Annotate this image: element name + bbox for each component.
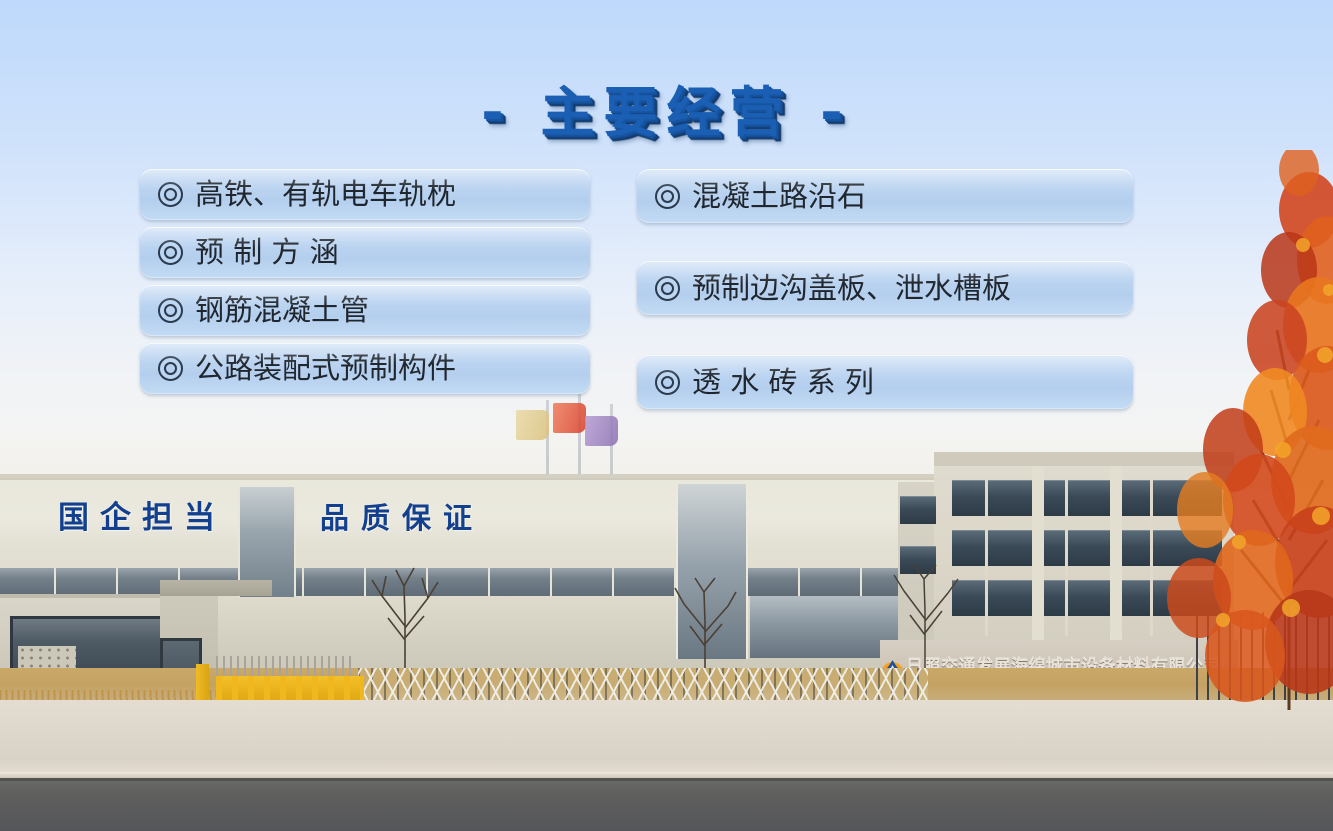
double-circle-icon: [158, 298, 183, 323]
autumn-maple-tree: [1113, 150, 1333, 710]
factory-sign-right: 品质保证: [320, 495, 484, 537]
office-mullion-2: [1065, 480, 1068, 636]
bare-tree-left: [360, 548, 450, 678]
service-list-left: 高铁、有轨电车轨枕 预 制 方 涵 钢筋混凝土管 公路装配式预制构件: [140, 169, 590, 401]
office-wing-window: [900, 496, 936, 524]
service-label: 公路装配式预制构件: [195, 354, 456, 383]
bare-tree-right: [880, 545, 970, 675]
page-title: - 主要经营 -: [0, 68, 1333, 147]
service-item-gangjin-pipe[interactable]: 钢筋混凝土管: [140, 285, 590, 336]
service-label: 透 水 砖 系 列: [692, 368, 874, 397]
sidewalk: [0, 700, 1333, 776]
service-label: 预 制 方 涵: [195, 238, 339, 267]
service-label: 混凝土路沿石: [692, 182, 866, 211]
bare-tree-center: [660, 560, 750, 680]
service-item-yuzhifanghan[interactable]: 预 制 方 涵: [140, 227, 590, 278]
service-label: 预制边沟盖板、泄水槽板: [692, 274, 1011, 303]
double-circle-icon: [158, 182, 183, 207]
service-label: 钢筋混凝土管: [195, 296, 369, 325]
factory-sign-left: 国企担当: [58, 492, 226, 537]
service-item-permeable-brick[interactable]: 透 水 砖 系 列: [637, 355, 1133, 409]
double-circle-icon: [158, 240, 183, 265]
double-circle-icon: [158, 356, 183, 381]
flag-red: [553, 403, 586, 433]
entrance-canopy: [160, 580, 272, 596]
flag-purple: [585, 416, 618, 446]
poster-canvas: 国企担当 品质保证 日照交通发展海绵城市设备材料有限公司: [0, 0, 1333, 831]
double-circle-icon: [655, 370, 680, 395]
yellow-safety-barrier: [216, 676, 364, 702]
service-item-highway-components[interactable]: 公路装配式预制构件: [140, 343, 590, 394]
double-circle-icon: [655, 184, 680, 209]
asphalt-road: [0, 778, 1333, 831]
office-mullion-1: [985, 480, 988, 636]
service-item-curbstone[interactable]: 混凝土路沿石: [637, 169, 1133, 223]
service-list-right: 混凝土路沿石 预制边沟盖板、泄水槽板 透 水 砖 系 列: [637, 169, 1133, 409]
service-item-ditch-cover[interactable]: 预制边沟盖板、泄水槽板: [637, 261, 1133, 315]
service-label: 高铁、有轨电车轨枕: [195, 180, 456, 209]
office-pier-1: [1032, 466, 1044, 656]
page-title-text: - 主要经营 -: [481, 68, 851, 147]
flag-yellow: [516, 410, 549, 440]
service-item-gaotie[interactable]: 高铁、有轨电车轨枕: [140, 169, 590, 220]
double-circle-icon: [655, 276, 680, 301]
